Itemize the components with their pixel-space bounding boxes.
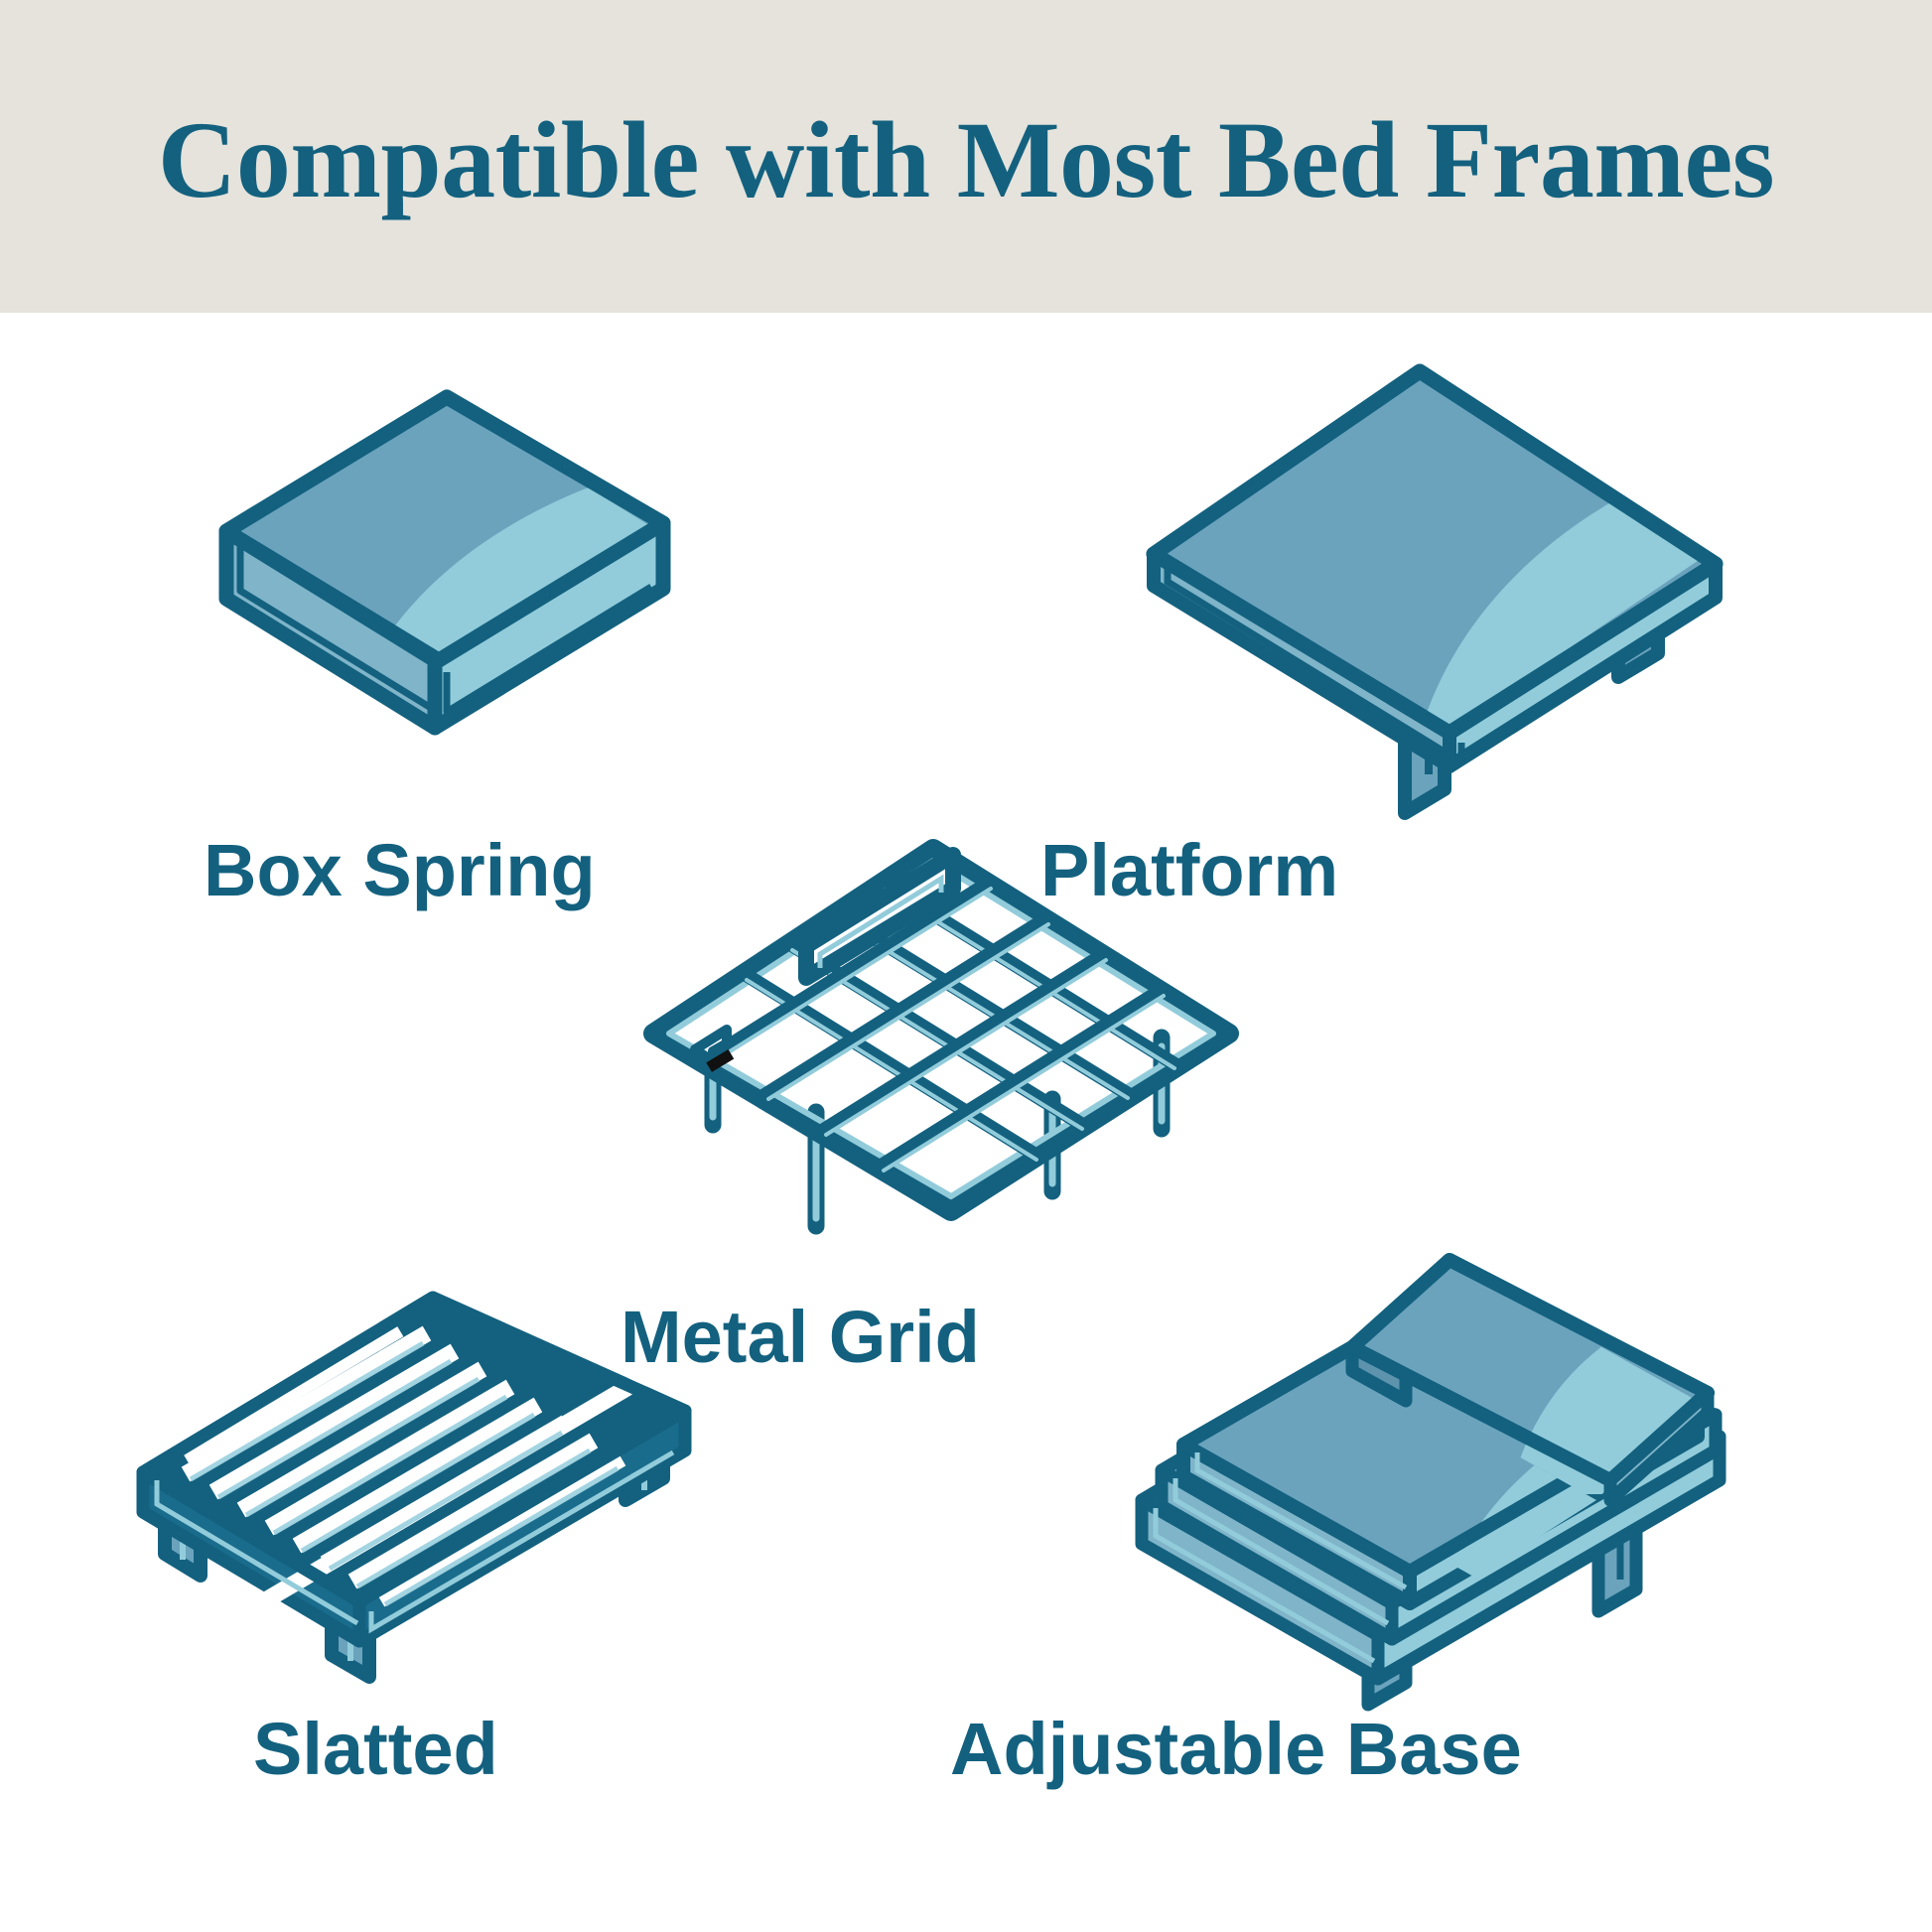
box-spring-icon xyxy=(119,343,755,740)
platform-icon xyxy=(1122,338,1767,735)
infographic-canvas: Compatible with Most Bed Frames xyxy=(0,0,1932,1932)
caption-metal-grid: Metal Grid xyxy=(621,1301,980,1374)
figure-box-spring xyxy=(119,343,755,740)
figure-platform xyxy=(1122,338,1767,735)
header-band: Compatible with Most Bed Frames xyxy=(0,0,1932,313)
caption-adjustable-base: Adjustable Base xyxy=(950,1713,1522,1786)
caption-platform: Platform xyxy=(1040,834,1338,907)
page-title: Compatible with Most Bed Frames xyxy=(158,105,1774,214)
adjustable-base-icon xyxy=(1122,1246,1777,1663)
caption-box-spring: Box Spring xyxy=(204,834,596,907)
figure-adjustable-base xyxy=(1122,1246,1777,1663)
illustration-area xyxy=(0,313,1932,1932)
caption-slatted: Slatted xyxy=(253,1713,498,1786)
